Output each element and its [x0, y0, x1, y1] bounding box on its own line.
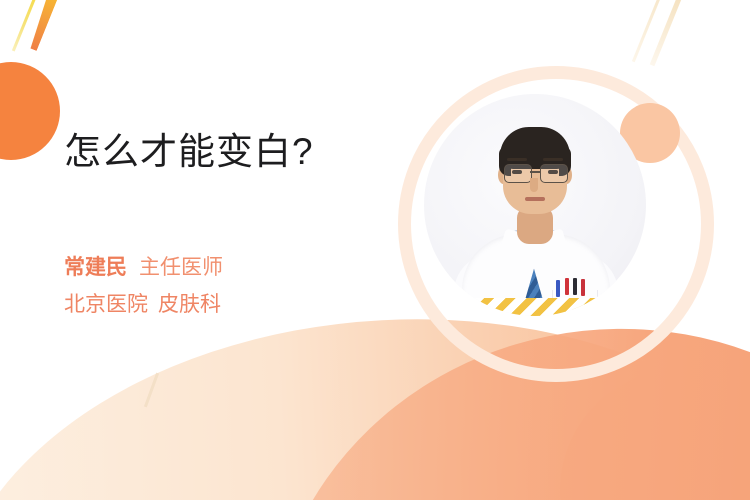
coat-pocket [552, 290, 598, 316]
pen-red-second-icon [581, 279, 585, 296]
circle-orange-decoration [0, 62, 60, 160]
coat-shoulder-left [450, 251, 529, 316]
pen-dark-icon [573, 278, 577, 295]
glasses-bridge [530, 171, 540, 173]
pocket-badge [572, 300, 588, 311]
pen-blue-icon [556, 280, 560, 297]
video-thumbnail: 怎么才能变白? 常建民主任医师 北京医院皮肤科 [0, 0, 750, 500]
diagonal-stripe-orange-icon [25, 0, 63, 51]
coat-shoulder-right [544, 251, 623, 316]
mouth [525, 197, 545, 201]
nose [530, 178, 538, 192]
diagonal-line-decoration [144, 373, 159, 408]
doctor-name: 常建民 [64, 256, 127, 279]
department-name: 皮肤科 [158, 293, 221, 316]
page-title: 怎么才能变白? [64, 121, 314, 175]
circle-peach-decoration [620, 103, 680, 163]
hair [500, 127, 570, 169]
hair-side-left [499, 146, 511, 176]
white-coat [462, 234, 610, 316]
pen-red-icon [565, 278, 569, 295]
diagonal-stripe-cream-a-icon [632, 0, 667, 62]
glasses-lens-left [504, 164, 532, 183]
glasses-lens-right [540, 164, 568, 183]
ring-peach-decoration [398, 66, 714, 382]
ear-left [498, 166, 509, 184]
necktie [523, 246, 543, 312]
eyebrow-left [507, 158, 527, 161]
coat-collar-right [525, 228, 584, 316]
diagonal-stripe-yellow-icon [12, 0, 41, 51]
doctor-portrait [424, 94, 646, 316]
hospital-name: 北京医院 [64, 293, 148, 316]
ear-right [561, 166, 572, 184]
neck [517, 206, 553, 244]
striped-arc-decoration [424, 94, 646, 316]
wave-foreground-decoration [235, 294, 750, 500]
eye-right [548, 170, 558, 174]
diagonal-stripe-cream-b-icon [650, 0, 689, 66]
face [503, 134, 567, 214]
doctor-affiliation-line: 北京医院皮肤科 [64, 288, 221, 318]
eyebrow-right [543, 158, 563, 161]
doctor-rank: 主任医师 [139, 256, 223, 279]
wave-background-decoration [0, 297, 750, 500]
coat-collar-left [483, 228, 542, 316]
shirt [510, 230, 560, 300]
eye-left [512, 170, 522, 174]
hair-side-right [559, 146, 571, 176]
wave-blob-decoration [560, 370, 750, 500]
doctor-credit-line: 常建民主任医师 [64, 251, 223, 281]
tie-knot [524, 234, 542, 250]
